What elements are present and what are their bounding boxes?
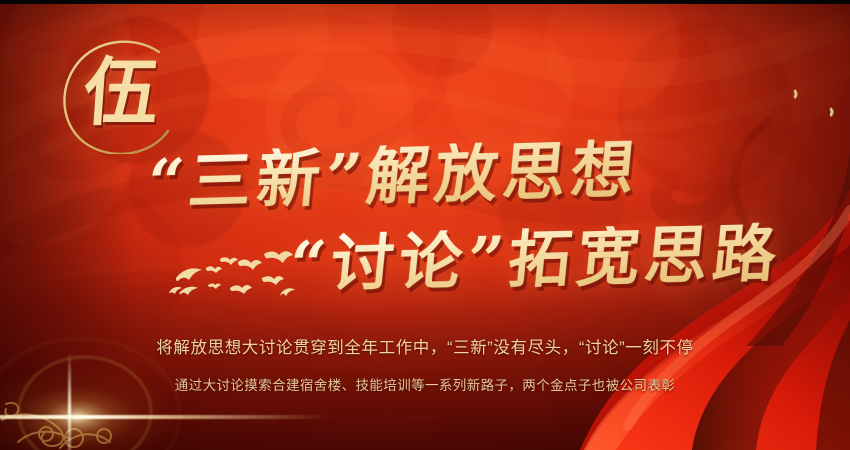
gold-ornament-icon bbox=[0, 398, 150, 450]
flying-birds-icon bbox=[168, 248, 296, 308]
subtitle-line-2: 通过大讨论摸索合建宿舍楼、技能培训等一系列新路子，两个金点子也被公司表彰 bbox=[0, 374, 850, 394]
gold-cloud-motif-left-icon bbox=[8, 284, 88, 312]
badge-number: 伍 bbox=[54, 34, 188, 152]
number-badge: 伍 bbox=[58, 36, 184, 154]
poster-banner: 伍 “三新”解放思想 “讨论”拓宽思路 将解放思想大讨论贯穿到全年工作中，“三新… bbox=[0, 0, 850, 450]
top-letterbox-bar bbox=[0, 0, 850, 4]
title-line-2: “讨论”拓宽思路 bbox=[286, 222, 784, 297]
title-line-1: “三新”解放思想 bbox=[144, 138, 642, 215]
flare-ring-icon bbox=[18, 356, 152, 450]
flare-horizontal-streak-icon bbox=[0, 415, 330, 419]
gold-cloud-motif-right-icon bbox=[734, 82, 842, 128]
flare-vertical-spike-icon bbox=[68, 352, 71, 450]
subtitle-line-1: 将解放思想大讨论贯穿到全年工作中，“三新”没有尽头，“讨论”一刻不停 bbox=[0, 334, 850, 358]
